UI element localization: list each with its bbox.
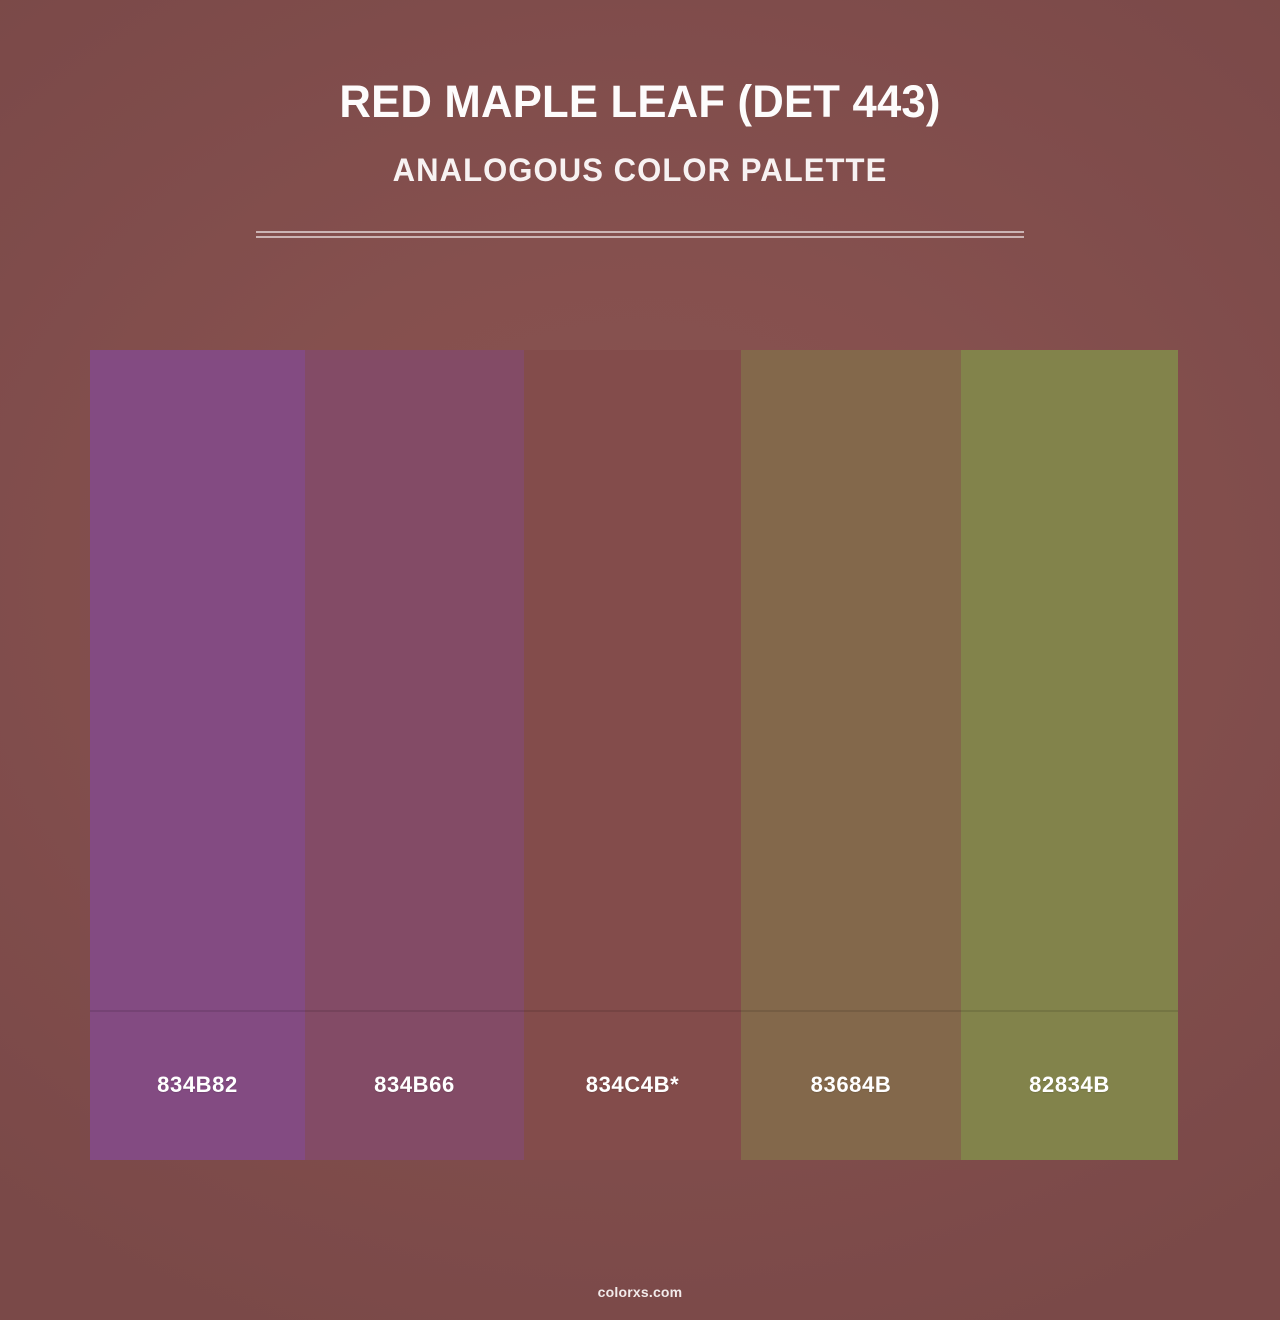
site-credit: colorxs.com <box>598 1284 683 1300</box>
color-swatch[interactable]: 82834B <box>961 350 1178 1160</box>
swatch-label-band[interactable]: 83684B <box>741 1010 961 1160</box>
swatch-label-band[interactable]: 834C4B* <box>524 1010 741 1160</box>
swatch-color-block[interactable] <box>741 350 961 1010</box>
swatch-hex-label: 834B82 <box>157 1072 238 1098</box>
swatch-color-block[interactable] <box>961 350 1178 1010</box>
divider-line-bottom <box>256 236 1024 238</box>
page-header: RED MAPLE LEAF (DET 443) ANALOGOUS COLOR… <box>0 0 1280 190</box>
swatch-label-band[interactable]: 82834B <box>961 1010 1178 1160</box>
page-title: RED MAPLE LEAF (DET 443) <box>19 0 1261 130</box>
color-swatch[interactable]: 834B66 <box>305 350 524 1160</box>
swatch-color-block[interactable] <box>90 350 305 1010</box>
swatch-hex-label: 83684B <box>811 1072 892 1098</box>
swatch-label-band[interactable]: 834B66 <box>305 1010 524 1160</box>
swatch-hex-label: 834B66 <box>374 1072 455 1098</box>
color-swatch[interactable]: 83684B <box>741 350 961 1160</box>
page-subtitle: ANALOGOUS COLOR PALETTE <box>19 130 1261 190</box>
swatch-label-band[interactable]: 834B82 <box>90 1010 305 1160</box>
color-swatch[interactable]: 834B82 <box>90 350 305 1160</box>
color-palette: 834B82834B66834C4B*83684B82834B <box>90 350 1178 1160</box>
swatch-color-block[interactable] <box>305 350 524 1010</box>
palette-page: RED MAPLE LEAF (DET 443) ANALOGOUS COLOR… <box>0 0 1280 1320</box>
divider-line-top <box>256 231 1024 233</box>
header-divider <box>256 231 1024 239</box>
color-swatch[interactable]: 834C4B* <box>524 350 741 1160</box>
swatch-hex-label: 82834B <box>1029 1072 1110 1098</box>
swatch-hex-label: 834C4B* <box>586 1072 679 1098</box>
swatch-color-block[interactable] <box>524 350 741 1010</box>
page-footer: colorxs.com <box>0 1284 1280 1302</box>
